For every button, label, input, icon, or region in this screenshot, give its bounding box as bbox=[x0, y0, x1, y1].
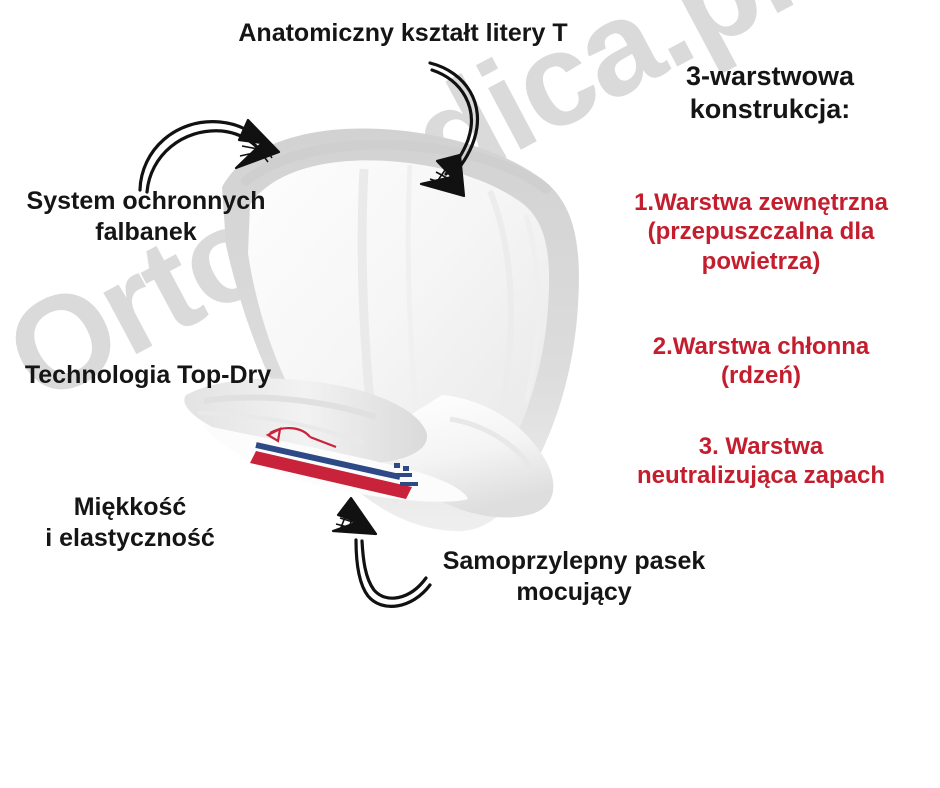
callout-anatomical-shape: Anatomiczny kształt litery T bbox=[168, 18, 638, 49]
heading-three-layer-construction: 3-warstwowa konstrukcja: bbox=[600, 60, 940, 126]
callout-softness-elasticity: Miękkość i elastyczność bbox=[0, 492, 260, 553]
layer-item-1: 1.Warstwa zewnętrzna (przepuszczalna dla… bbox=[582, 188, 940, 276]
callout-top-dry-technology: Technologia Top-Dry bbox=[0, 360, 308, 391]
callout-adhesive-tape: Samoprzylepny pasek mocujący bbox=[390, 546, 758, 607]
layer-item-3: 3. Warstwa neutralizująca zapach bbox=[582, 432, 940, 491]
infographic-canvas: Ortomedica.pl bbox=[0, 0, 940, 788]
layer-item-2: 2.Warstwa chłonna (rdzeń) bbox=[582, 332, 940, 391]
callout-protective-ruffles: System ochronnych falbanek bbox=[0, 186, 296, 247]
